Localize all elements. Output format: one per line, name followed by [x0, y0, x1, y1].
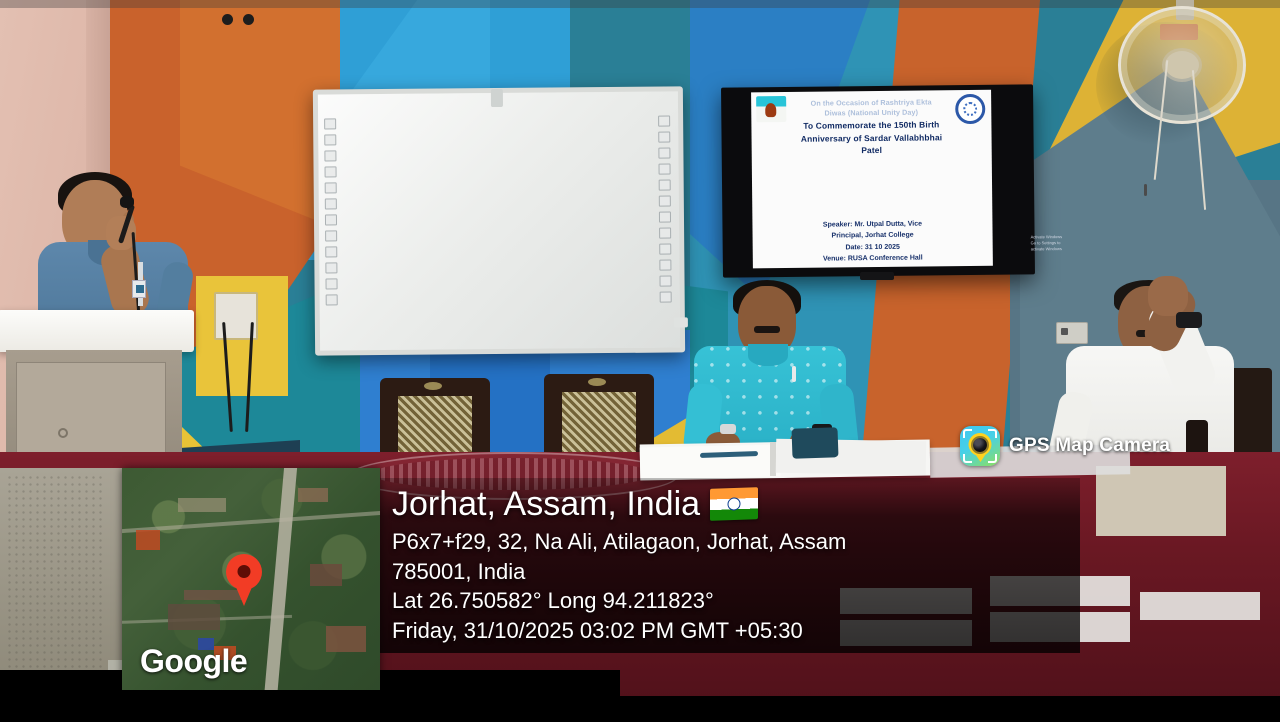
whiteboard-tool-icon[interactable] — [659, 243, 671, 254]
gps-map-camera-label: GPS Map Camera — [1009, 435, 1170, 457]
interactive-whiteboard — [313, 86, 685, 355]
google-attribution-label: Google — [140, 643, 247, 680]
power-plug — [222, 14, 233, 25]
map-building — [178, 498, 226, 512]
right-person-lap — [1096, 466, 1226, 536]
viewfinder-corner-icon — [988, 454, 997, 463]
whiteboard-tool-icon[interactable] — [326, 294, 338, 305]
map-building — [326, 626, 366, 652]
letterbox-bar-bottom — [0, 696, 1280, 722]
whiteboard-tool-icon[interactable] — [325, 246, 337, 257]
whiteboard-tool-icon[interactable] — [325, 262, 337, 273]
cabinet-speaker-grille — [6, 474, 106, 674]
podium-top — [0, 310, 194, 352]
map-building — [298, 488, 328, 502]
activation-watermark-line2: Go to Settings to activate Windows — [1031, 240, 1071, 252]
center-person-moustache — [754, 326, 780, 333]
datetime-line: Friday, 31/10/2025 03:02 PM GMT +05:30 — [392, 616, 1070, 645]
camera-lens-icon — [973, 438, 987, 452]
map-pin-icon — [226, 554, 262, 590]
slide-venue-line: Venue: RUSA Conference Hall — [753, 252, 993, 266]
india-flag-icon — [710, 487, 758, 521]
gps-map-camera-icon — [960, 426, 1000, 466]
whiteboard-tool-icon[interactable] — [324, 118, 336, 129]
fan-pull-switch[interactable] — [1144, 184, 1147, 196]
whiteboard-tool-icon[interactable] — [324, 134, 336, 145]
presentation-slide: On the Occasion of Rashtriya Ekta Diwas … — [751, 90, 993, 269]
map-thumbnail[interactable]: Google — [122, 468, 380, 690]
microphone-head — [120, 196, 134, 208]
whiteboard-tool-icon[interactable] — [658, 132, 670, 143]
whiteboard-tool-icon[interactable] — [325, 198, 337, 209]
map-building — [310, 564, 342, 586]
chair-emblem — [588, 378, 606, 386]
coordinates-line: Lat 26.750582° Long 94.211823° — [392, 586, 1070, 615]
chair-cane-back — [562, 392, 636, 454]
ceiling-edge — [0, 0, 1280, 8]
whiteboard-tool-icon[interactable] — [659, 211, 671, 222]
whiteboard-tool-icon[interactable] — [325, 278, 337, 289]
whiteboard-toolbar-left[interactable] — [324, 118, 340, 305]
chair-right — [544, 374, 654, 458]
slide-main-line3: Patel — [758, 143, 986, 158]
whiteboard-tool-icon[interactable] — [324, 150, 336, 161]
viewfinder-corner-icon — [963, 454, 972, 463]
power-plug — [243, 14, 254, 25]
whiteboard-tool-icon[interactable] — [659, 164, 671, 175]
center-person-wristband — [720, 424, 736, 434]
address-line-2: 785001, India — [392, 557, 1070, 586]
whiteboard-tool-icon[interactable] — [325, 166, 337, 177]
gps-map-camera-watermark: GPS Map Camera — [956, 422, 1182, 470]
slide-faded-line2: Diwas (National Unity Day) — [757, 107, 985, 119]
whiteboard-tool-icon[interactable] — [659, 195, 671, 206]
address-line-1: P6x7+f29, 32, Na Ali, Atilagaon, Jorhat,… — [392, 527, 1070, 556]
gps-camera-photo: On the Occasion of Rashtriya Ekta Diwas … — [0, 0, 1280, 722]
gps-info-overlay: Jorhat, Assam, India P6x7+f29, 32, Na Al… — [380, 478, 1080, 653]
map-building — [168, 604, 220, 630]
podium-knob — [58, 428, 68, 438]
speaker-id-card — [132, 280, 146, 298]
center-person-collar — [748, 344, 788, 366]
whiteboard-tool-icon[interactable] — [325, 182, 337, 193]
mobile-phone-on-table — [791, 427, 838, 459]
podium-panel — [16, 362, 166, 462]
whiteboard-pen-tray — [674, 317, 688, 327]
whiteboard-toolbar-right[interactable] — [658, 115, 674, 302]
viewfinder-corner-icon — [988, 429, 997, 438]
whiteboard-tool-icon[interactable] — [659, 259, 671, 270]
location-title-row: Jorhat, Assam, India — [392, 484, 1070, 524]
chair-left — [380, 378, 490, 462]
map-building — [136, 530, 160, 550]
location-title: Jorhat, Assam, India — [392, 484, 700, 524]
whiteboard-tool-icon[interactable] — [658, 116, 670, 127]
chair-cane-back — [398, 396, 472, 458]
whiteboard-tool-icon[interactable] — [658, 148, 670, 159]
whiteboard-tool-icon[interactable] — [659, 227, 671, 238]
right-person-hand — [1148, 276, 1188, 316]
right-person-wristwatch — [1176, 312, 1202, 328]
whiteboard-tool-icon[interactable] — [659, 275, 671, 286]
whiteboard-clip — [491, 89, 503, 107]
wall-socket-right[interactable] — [1056, 322, 1088, 344]
map-pin-center — [238, 565, 251, 578]
whiteboard-tool-icon[interactable] — [660, 291, 672, 302]
whiteboard-tool-icon[interactable] — [325, 230, 337, 241]
whiteboard-tool-icon[interactable] — [325, 214, 337, 225]
center-person-pocket-pen — [792, 366, 796, 382]
whiteboard-tool-icon[interactable] — [659, 180, 671, 191]
slide-footer: Speaker: Mr. Utpal Dutta, Vice Principal… — [752, 218, 992, 265]
wall-mounted-fan — [1118, 6, 1246, 124]
wall-mounted-television: On the Occasion of Rashtriya Ekta Diwas … — [721, 84, 1035, 277]
chair-emblem — [424, 382, 442, 390]
table-card — [1140, 592, 1260, 620]
open-register-left-page — [640, 445, 781, 480]
television-mount — [860, 272, 894, 280]
windows-activation-watermark: Activate Windows Go to Settings to activ… — [1031, 234, 1071, 252]
